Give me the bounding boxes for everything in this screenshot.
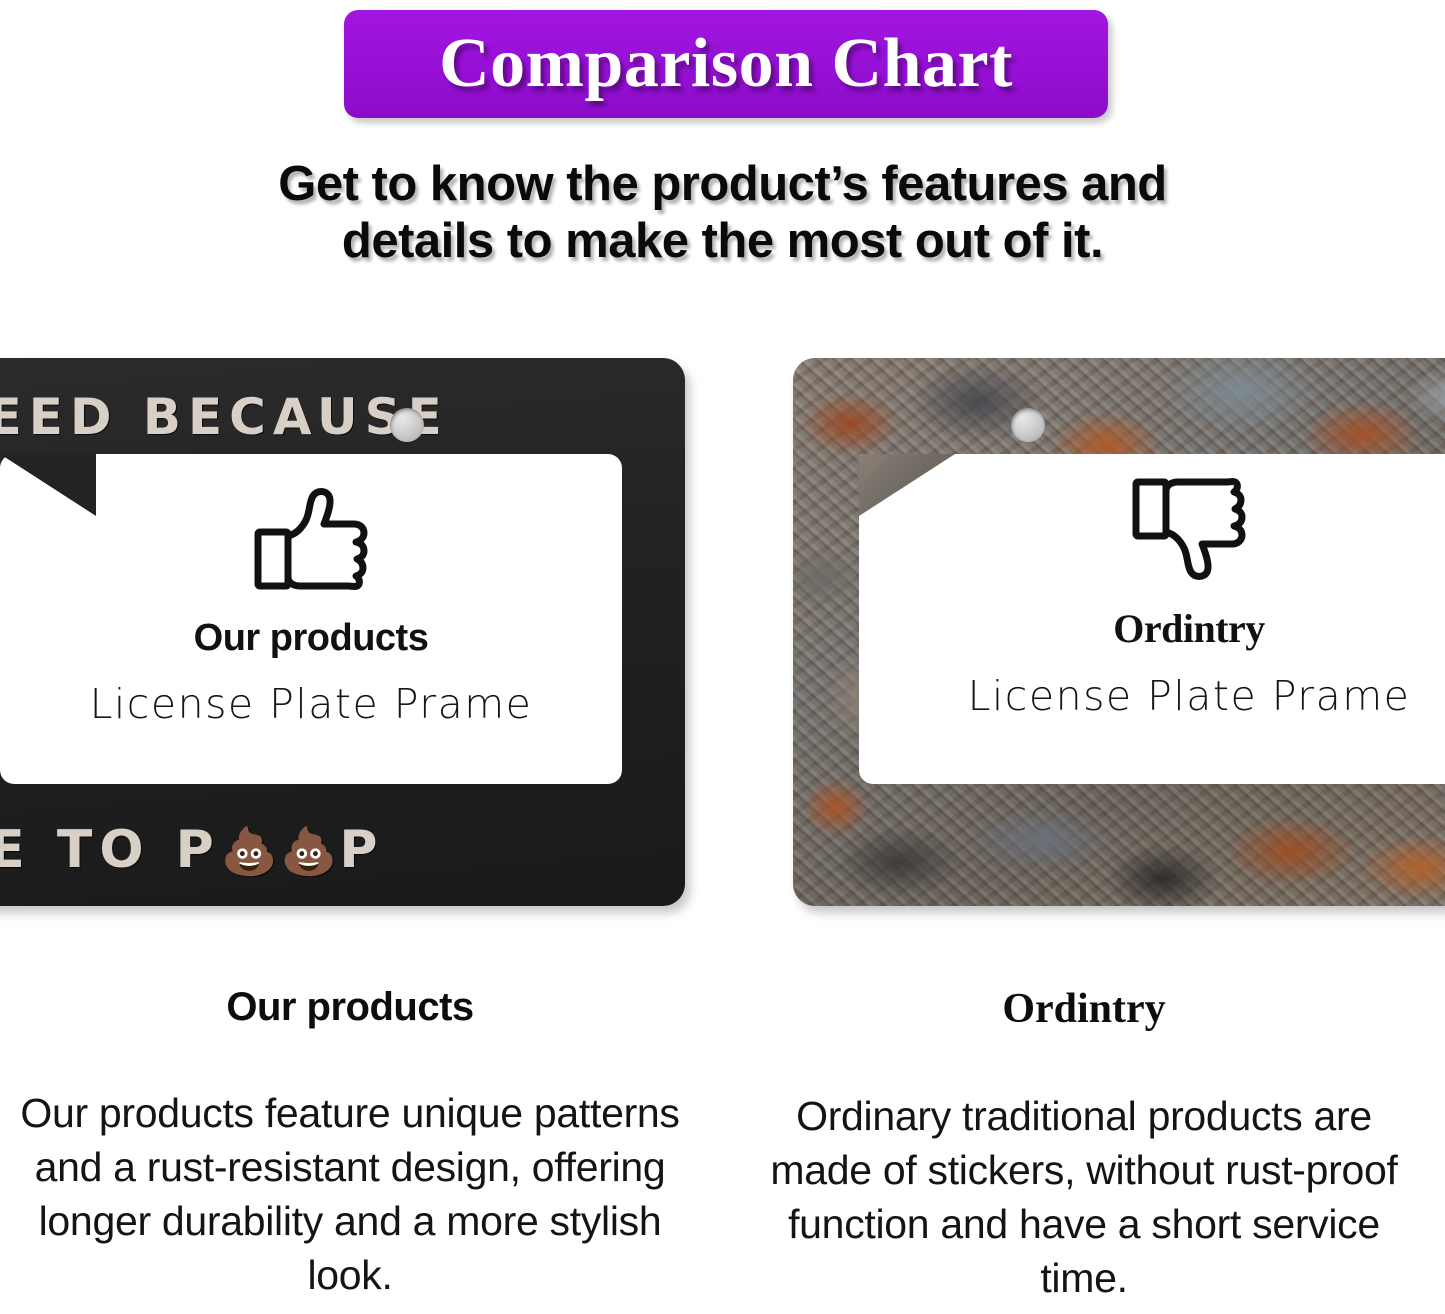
frame-engraving-bottom: VE TO P💩💩P — [0, 820, 384, 880]
black-license-plate-frame: PEED BECAUSE VE TO P💩💩P Our products Lic… — [0, 358, 685, 906]
mounting-hole-icon — [1011, 408, 1045, 442]
thumbs-down-icon — [1130, 472, 1248, 589]
plate-label: Our products — [194, 617, 429, 660]
page-title: Comparison Chart — [439, 29, 1013, 99]
column-body-text: Our products feature unique patterns and… — [14, 1086, 686, 1302]
product-frames-row: PEED BECAUSE VE TO P💩💩P Our products Lic… — [0, 358, 1445, 918]
column-body-text: Ordinary traditional products are made o… — [748, 1089, 1420, 1305]
frame-engraving-top: PEED BECAUSE — [0, 388, 449, 446]
thumbs-up-icon — [252, 484, 370, 601]
page-subtitle: Get to know the product’s features and d… — [120, 156, 1325, 270]
poop-emoji-icon: 💩💩 — [221, 824, 340, 878]
ordinary-product-description-column: Ordintry Ordinary traditional products a… — [748, 985, 1420, 1305]
engraving-bottom-suffix: P — [339, 820, 384, 880]
column-title: Our products — [14, 985, 686, 1030]
plate-sublabel: License Plate Prame — [90, 680, 533, 728]
plate-label: Ordintry — [1113, 605, 1265, 652]
column-title: Ordintry — [748, 985, 1420, 1033]
ordinary-product-frame-image: Ordintry License Plate Prame — [793, 358, 1445, 906]
our-product-description-column: Our products Our products feature unique… — [14, 985, 686, 1302]
comparison-chart-banner: Comparison Chart — [344, 10, 1108, 118]
subtitle-line-2: details to make the most out of it. — [120, 213, 1325, 270]
frame-corner-chamfer — [0, 454, 96, 516]
subtitle-line-1: Get to know the product’s features and — [120, 156, 1325, 213]
plate-sublabel: License Plate Prame — [968, 672, 1411, 720]
comparison-chart-page: Comparison Chart Get to know the product… — [0, 0, 1445, 1314]
product-descriptions-row: Our products Our products feature unique… — [0, 985, 1445, 1314]
rusty-license-plate-frame: Ordintry License Plate Prame — [793, 358, 1445, 906]
engraving-bottom-prefix: VE TO P — [0, 820, 221, 880]
mounting-hole-icon — [390, 408, 424, 442]
license-plate-opening: Ordintry License Plate Prame — [859, 454, 1445, 784]
our-product-frame-image: PEED BECAUSE VE TO P💩💩P Our products Lic… — [0, 358, 685, 906]
